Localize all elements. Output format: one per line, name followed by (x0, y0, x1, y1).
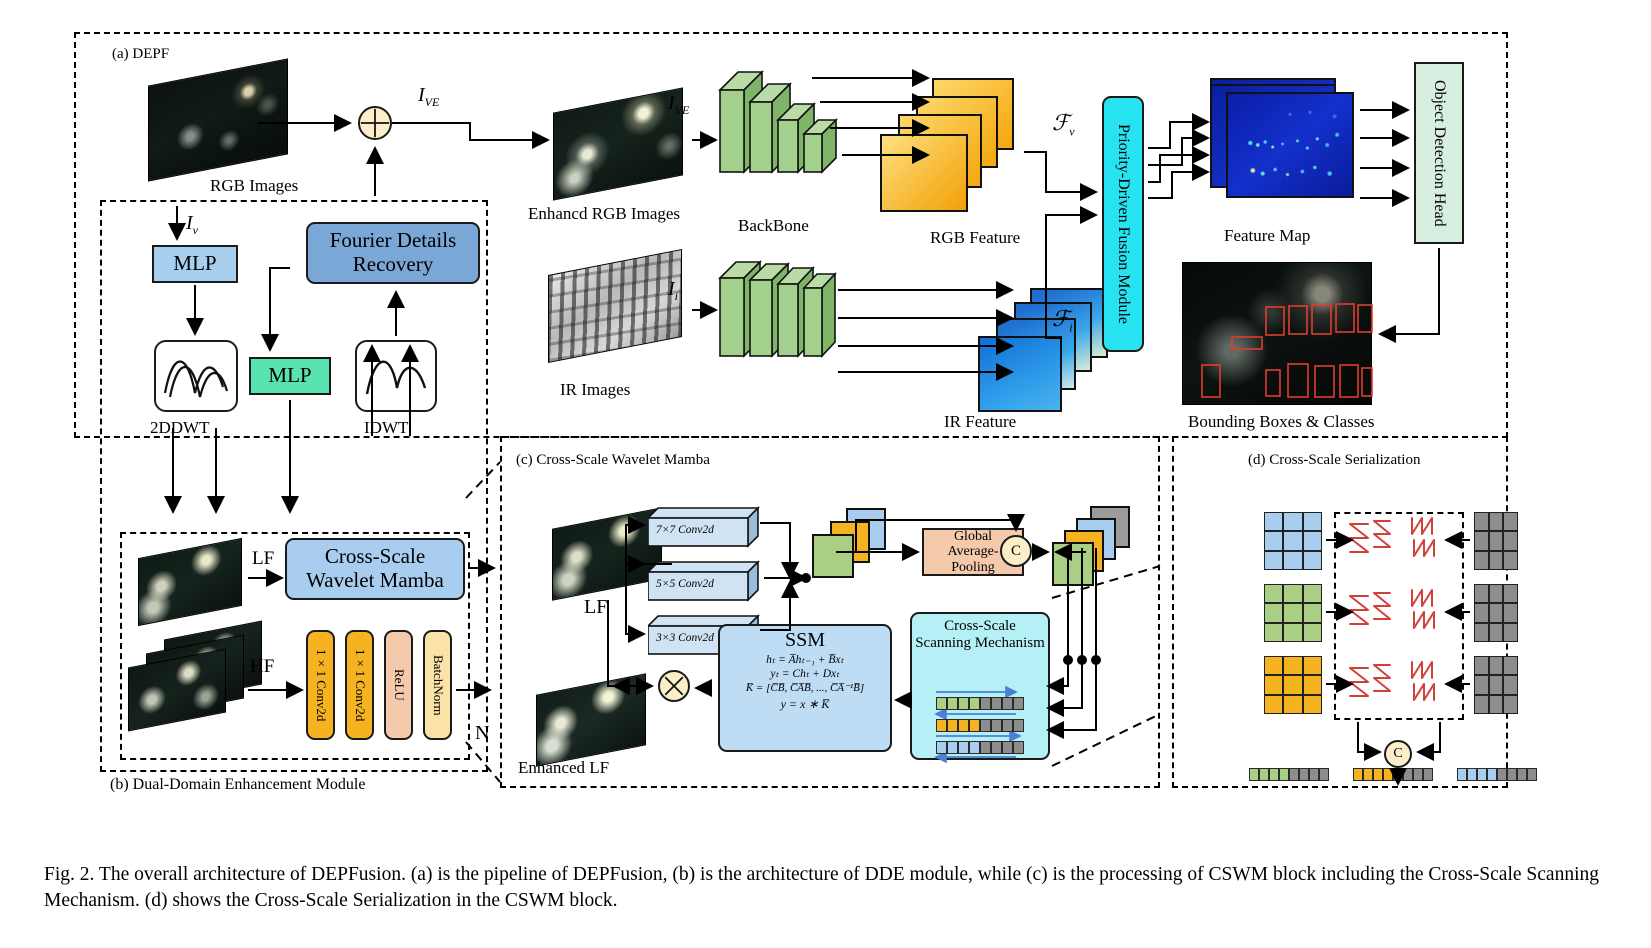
backbone-rgb (718, 62, 848, 177)
concat-circle-c: C (1000, 535, 1032, 567)
cswm-label: Cross-Scale Wavelet Mamba (293, 545, 457, 592)
hf-block-bn-label: BatchNorm (430, 655, 445, 716)
hf-block-relu[interactable]: ReLU (384, 630, 413, 740)
priority-driven-fusion-module[interactable]: Priority-Driven Fusion Module (1102, 96, 1144, 352)
fourier-details-recovery-block[interactable]: Fourier Details Recovery (306, 222, 480, 284)
conv-branch-5x5[interactable]: 5×5 Conv2d (648, 560, 760, 607)
dwt-icon-box (154, 340, 238, 412)
i-ve-label-mid: IVE (668, 92, 689, 118)
ssm-eq4: y = x ∗ K̅ (781, 698, 830, 711)
ssm-eq2: yₜ = Chₜ + Dxₜ (770, 668, 839, 681)
repeat-n-label: N (475, 722, 489, 745)
fourier-label: Fourier Details Recovery (314, 229, 472, 276)
object-detection-head[interactable]: Object Detection Head (1414, 62, 1464, 244)
mlp-blue-block[interactable]: MLP (152, 245, 238, 283)
conv-branch-7x7[interactable]: 7×7 Conv2d (648, 506, 760, 553)
gray-grid-3 (1474, 656, 1518, 714)
enhanced-rgb-label: Enhancd RGB Images (528, 204, 680, 224)
panel-a-label: (a) DEPF (112, 46, 169, 63)
ssm-title: SSM (785, 629, 825, 651)
output-seq-green (1249, 768, 1329, 781)
conv-branch-5x5-label: 5×5 Conv2d (656, 578, 714, 590)
ir-images-label: IR Images (560, 380, 630, 400)
mlp-blue-label: MLP (173, 252, 216, 276)
ssm-eq3: K̅ = [C̅B̅, C̅A̅B̅, ..., C̅A̅⁻¹B̅] (746, 682, 864, 694)
fusion-module-label: Priority-Driven Fusion Module (1114, 124, 1132, 324)
enhanced-lf-label: Enhanced LF (518, 758, 609, 778)
mlp-green-block[interactable]: MLP (249, 357, 331, 395)
concat-symbol-d: C (1393, 746, 1402, 762)
detection-head-label: Object Detection Head (1430, 80, 1448, 227)
scan-row-green (936, 697, 1024, 710)
f-i-label: ℱi (1052, 306, 1073, 335)
sum-operator-icon (358, 106, 392, 140)
scan-row-orange (936, 719, 1024, 732)
hf-block-conv1-label: 1×1 Conv2d (313, 649, 328, 721)
panel-b-label: (b) Dual-Domain Enhancement Module (110, 776, 365, 794)
concat-circle-d: C (1384, 740, 1412, 768)
hf-label-b: HF (250, 656, 274, 678)
figure-caption: Fig. 2. The overall architecture of DEPF… (44, 862, 1614, 914)
lf-label-b: LF (252, 548, 274, 570)
concat-symbol-c: C (1011, 543, 1021, 560)
hf-block-conv2-label: 1×1 Conv2d (352, 649, 367, 721)
i-i-label: Ii (668, 278, 678, 304)
i-ve-label-top: IVE (418, 84, 439, 110)
panel-d-label: (d) Cross-Scale Serialization (1248, 452, 1420, 469)
idwt-icon-box (355, 340, 437, 412)
backbone-label: BackBone (738, 216, 809, 236)
gray-grid-2 (1474, 584, 1518, 642)
gray-grid-1 (1474, 512, 1518, 570)
scanning-title-line1: Cross-Scale (944, 618, 1016, 635)
ssm-block: SSM hₜ = A̅hₜ₋₁ + B̅xₜ yₜ = Chₜ + Dxₜ K̅… (718, 624, 892, 752)
f-v-label: ℱv (1052, 110, 1075, 139)
dwt-label: 2DDWT (150, 418, 209, 438)
conv-branch-3x3-label: 3×3 Conv2d (656, 632, 714, 644)
bounding-boxes-label: Bounding Boxes & Classes (1188, 412, 1375, 432)
rgb-images-label: RGB Images (210, 176, 298, 196)
ssm-eq1: hₜ = A̅hₜ₋₁ + B̅xₜ (766, 654, 844, 667)
backbone-ir (718, 256, 848, 366)
ir-feature-label: IR Feature (944, 412, 1016, 432)
scale-grid-green (1264, 584, 1322, 642)
hf-block-conv1[interactable]: 1×1 Conv2d (306, 630, 335, 740)
panel-d-inner-border (1334, 512, 1464, 720)
cross-scale-wavelet-mamba-block[interactable]: Cross-Scale Wavelet Mamba (285, 538, 465, 600)
output-seq-blue (1457, 768, 1537, 781)
scale-grid-orange (1264, 656, 1322, 714)
feature-map-top (1226, 92, 1354, 198)
feature-map-label: Feature Map (1224, 226, 1310, 246)
mlp-green-label: MLP (268, 364, 311, 388)
bounding-boxes-photo (1182, 262, 1372, 405)
i-v-label: Iv (186, 212, 198, 238)
hf-block-batchnorm[interactable]: BatchNorm (423, 630, 452, 740)
panel-c-label: (c) Cross-Scale Wavelet Mamba (516, 452, 710, 469)
output-seq-orange (1353, 768, 1433, 781)
wavelet-double-icon (161, 347, 231, 405)
cross-scale-scanning-mechanism-block: Cross-Scale Scanning Mechanism (910, 612, 1050, 760)
multiply-operator-icon (658, 670, 690, 702)
rgb-feature-label: RGB Feature (930, 228, 1020, 248)
hf-block-relu-label: ReLU (391, 669, 406, 701)
wavelet-single-icon (363, 348, 429, 404)
lf-label-c: LF (584, 596, 607, 619)
scanning-title-line2: Scanning Mechanism (915, 635, 1045, 652)
conv-branch-7x7-label: 7×7 Conv2d (656, 524, 714, 536)
hf-block-conv2[interactable]: 1×1 Conv2d (345, 630, 374, 740)
scale-grid-blue (1264, 512, 1322, 570)
idwt-label: IDWT (364, 418, 408, 438)
scan-row-blue (936, 741, 1024, 754)
